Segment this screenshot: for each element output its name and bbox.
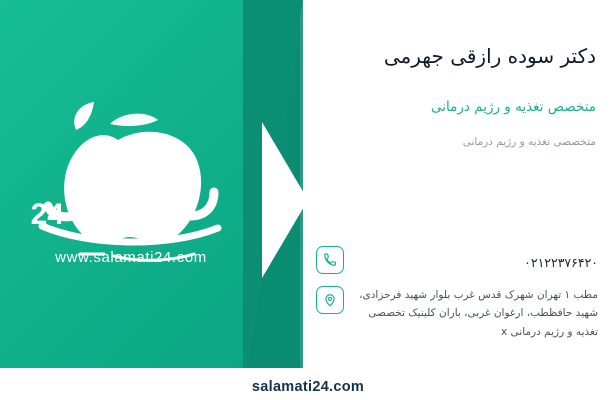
address-row: مطب ۱ تهران شهرک قدس غرب بلوار شهید فرحز… [316,286,598,341]
footer-site-url[interactable]: salamati24.com [252,379,364,395]
svg-text:24: 24 [31,198,65,231]
address-text: مطب ۱ تهران شهرک قدس غرب بلوار شهید فرحز… [344,286,598,341]
doctor-name: دکتر سوده رازقی جهرمی [384,44,596,68]
business-card: 24 www.salamati24.com دکتر سوده رازقی جه… [0,0,616,400]
contact-block: ۰۲۱۲۲۳۷۶۴۲۰ مطب ۱ تهران شهرک قدس غرب بلو… [316,246,598,353]
specialty-secondary: متخصصی تغذیه و رژیم درمانی [463,136,596,148]
location-pin-icon [316,286,344,314]
info-panel: دکتر سوده رازقی جهرمی متخصص تغذیه و رژیم… [300,0,616,400]
phone-number: ۰۲۱۲۲۳۷۶۴۲۰ [344,246,598,274]
phone-row: ۰۲۱۲۲۳۷۶۴۲۰ [316,246,598,274]
specialty-primary: متخصص تغذیه و رژیم درمانی [431,99,596,115]
phone-icon [316,246,344,274]
logo-url: www.salamati24.com [18,249,244,266]
